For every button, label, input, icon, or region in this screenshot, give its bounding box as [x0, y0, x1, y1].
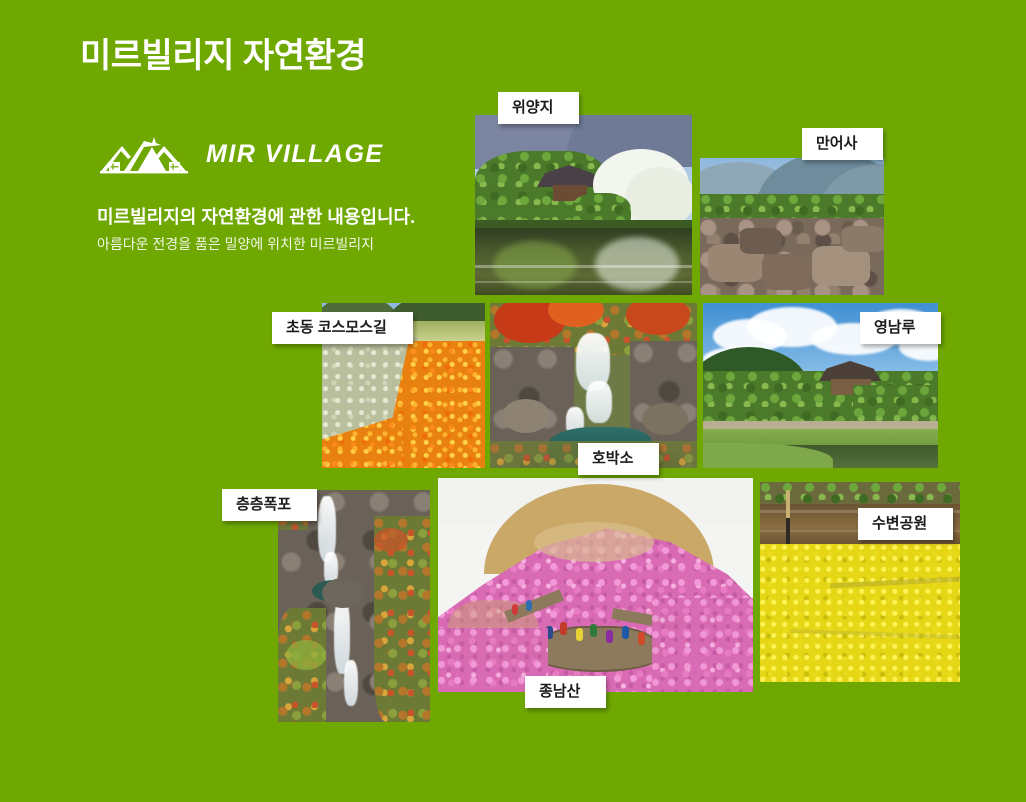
- caption-jongnamsan-text: 종남산: [539, 683, 580, 700]
- caption-yeongnamru: 영남루: [860, 312, 941, 344]
- caption-chodong-text: 초동 코스모스길: [286, 319, 387, 336]
- caption-maneosa: 만어사: [802, 128, 883, 160]
- photo-wiyangji-image: [475, 115, 692, 295]
- caption-chodong: 초동 코스모스길: [272, 312, 413, 344]
- photo-cheungcheung-image: [278, 490, 430, 722]
- caption-jongnamsan: 종남산: [525, 676, 606, 708]
- photo-cheungcheung[interactable]: [278, 490, 430, 722]
- poster-canvas: 미르빌리지 자연환경 MIR VILLAGE 미르빌리지의 자연환경에 관한 내…: [0, 0, 1026, 802]
- caption-wiyangji-text: 위양지: [512, 99, 553, 116]
- brand-logo-text: MIR VILLAGE: [206, 140, 384, 169]
- brand-logo: MIR VILLAGE: [98, 132, 384, 176]
- caption-wiyangji: 위양지: [498, 92, 579, 124]
- caption-maneosa-text: 만어사: [816, 135, 857, 152]
- caption-yeongnamru-text: 영남루: [874, 319, 915, 336]
- photo-maneosa[interactable]: [700, 158, 884, 295]
- photo-jongnamsan[interactable]: [438, 478, 753, 692]
- caption-hobakso: 호박소: [578, 443, 659, 475]
- page-title: 미르빌리지 자연환경: [80, 28, 366, 77]
- caption-subyeon-text: 수변공원: [872, 515, 927, 532]
- caption-hobakso-text: 호박소: [592, 450, 633, 467]
- intro-subline: 아름다운 전경을 품은 밀양에 위치한 미르빌리지: [97, 234, 517, 254]
- caption-cheungcheung-text: 층층폭포: [236, 496, 291, 513]
- caption-subyeon: 수변공원: [858, 508, 953, 540]
- photo-jongnamsan-image: [438, 478, 753, 692]
- house-roof-icon: [98, 133, 198, 175]
- photo-maneosa-image: [700, 158, 884, 295]
- photo-wiyangji[interactable]: [475, 115, 692, 295]
- intro-headline: 미르빌리지의 자연환경에 관한 내용입니다.: [97, 203, 517, 229]
- caption-cheungcheung: 층층폭포: [222, 489, 317, 521]
- intro-block: 미르빌리지의 자연환경에 관한 내용입니다. 아름다운 전경을 품은 밀양에 위…: [97, 203, 517, 254]
